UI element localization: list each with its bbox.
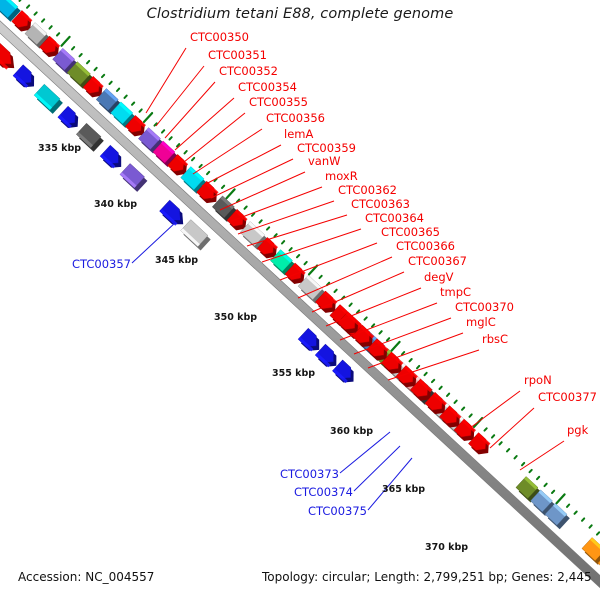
tick-minor — [42, 19, 44, 21]
tick-minor — [470, 414, 472, 416]
tick-minor — [27, 5, 29, 7]
tick-minor — [140, 109, 142, 111]
leader-line — [211, 159, 293, 198]
gene-block — [120, 164, 147, 192]
axis-tick-label: 350 kbp — [214, 312, 257, 323]
gene-label-pgk[interactable]: pgk — [567, 423, 588, 437]
gene-label-ctc00370[interactable]: CTC00370 — [455, 300, 514, 314]
gene-label-ctc00359[interactable]: CTC00359 — [297, 141, 356, 155]
axis-tick-label: 370 kbp — [425, 542, 468, 553]
tick-minor — [575, 512, 577, 514]
gene-label-ctc00356[interactable]: CTC00356 — [266, 111, 325, 125]
tick-minor — [297, 255, 299, 257]
tick-minor — [522, 463, 524, 465]
gene-label-moxr[interactable]: moxR — [325, 169, 358, 183]
tick-minor — [590, 525, 592, 527]
leader-line — [340, 432, 390, 473]
tick-minor — [222, 186, 224, 188]
tick-minor — [200, 165, 202, 167]
gene-label-ctc00373[interactable]: CTC00373 — [280, 467, 339, 481]
tick-minor — [50, 26, 52, 28]
gene-label-ctc00367[interactable]: CTC00367 — [408, 254, 467, 268]
tick-minor — [20, 0, 22, 1]
tick-minor — [282, 241, 284, 243]
tick-minor — [170, 137, 172, 139]
gene-arrow — [100, 145, 121, 168]
tick-minor — [447, 394, 449, 396]
axis-tick-label: 345 kbp — [155, 255, 198, 266]
tick-minor — [425, 373, 427, 375]
leader-line — [229, 187, 322, 222]
tick-minor — [410, 359, 412, 361]
tick-minor — [455, 401, 457, 403]
tick-minor — [207, 172, 209, 174]
gene-label-rbsc[interactable]: rbsC — [482, 332, 508, 346]
gene-label-ctc00357[interactable]: CTC00357 — [72, 257, 131, 271]
gene-label-ctc00374[interactable]: CTC00374 — [294, 485, 353, 499]
tick-minor — [132, 103, 134, 105]
tick-minor — [110, 82, 112, 84]
tick-minor — [335, 290, 337, 292]
leader-line — [184, 113, 245, 162]
tick-minor — [252, 213, 254, 215]
tick-minor — [417, 366, 419, 368]
gene-label-ctc00377[interactable]: CTC00377 — [538, 390, 597, 404]
leader-line — [470, 391, 520, 428]
tick-minor — [72, 47, 74, 49]
leader-line — [238, 201, 334, 234]
tick-major — [62, 37, 70, 46]
genome-stats-text: Topology: circular; Length: 2,799,251 bp… — [262, 570, 592, 584]
gene-label-mglc[interactable]: mglC — [466, 315, 496, 329]
gene-block — [181, 220, 211, 251]
tick-major — [227, 189, 235, 198]
tick-minor — [267, 227, 269, 229]
tick-minor — [530, 470, 532, 472]
tick-minor — [57, 33, 59, 35]
tick-major — [392, 342, 400, 351]
gene-label-ctc00354[interactable]: CTC00354 — [238, 80, 297, 94]
genome-map-canvas: Clostridium tetani E88, complete genome … — [0, 0, 600, 600]
gene-block — [34, 84, 63, 114]
tick-minor — [365, 317, 367, 319]
gene-label-vanw[interactable]: vanW — [308, 154, 341, 168]
gene-label-ctc00365[interactable]: CTC00365 — [381, 225, 440, 239]
tick-minor — [87, 61, 89, 63]
gene-label-ctc00355[interactable]: CTC00355 — [249, 95, 308, 109]
gene-label-ctc00364[interactable]: CTC00364 — [365, 211, 424, 225]
tick-minor — [35, 12, 37, 14]
tick-minor — [537, 477, 539, 479]
tick-minor — [432, 380, 434, 382]
gene-label-ctc00351[interactable]: CTC00351 — [208, 48, 267, 62]
tick-minor — [95, 68, 97, 70]
axis-tick-label: 335 kbp — [38, 143, 81, 154]
tick-minor — [245, 207, 247, 209]
tick-major — [557, 494, 565, 503]
tick-minor — [402, 352, 404, 354]
tick-minor — [387, 338, 389, 340]
tick-minor — [117, 89, 119, 91]
axis-tick-label: 365 kbp — [382, 484, 425, 495]
tick-minor — [552, 491, 554, 493]
tick-minor — [185, 151, 187, 153]
label-leader-lines — [132, 48, 564, 510]
leader-line — [146, 48, 186, 113]
leader-line — [165, 82, 215, 138]
leader-line — [202, 145, 281, 186]
axis-tick-label: 360 kbp — [330, 426, 373, 437]
tick-minor — [515, 456, 517, 458]
tick-minor — [380, 331, 382, 333]
gene-label-ctc00352[interactable]: CTC00352 — [219, 64, 278, 78]
tick-minor — [507, 449, 509, 451]
tick-minor — [192, 158, 194, 160]
tick-minor — [597, 532, 599, 534]
tick-minor — [275, 234, 277, 236]
gene-arrow — [160, 200, 184, 226]
tick-major — [144, 113, 152, 122]
gene-label-ctc00350[interactable]: CTC00350 — [190, 30, 249, 44]
accession-text: Accession: NC_004557 — [18, 570, 154, 584]
tick-minor — [162, 130, 164, 132]
leader-line — [193, 129, 262, 174]
tick-minor — [372, 324, 374, 326]
leader-line — [298, 257, 392, 298]
leader-line — [490, 408, 534, 448]
gene-label-ctc00366[interactable]: CTC00366 — [396, 239, 455, 253]
gene-block — [582, 538, 600, 565]
tick-minor — [492, 435, 494, 437]
gene-arrow — [298, 328, 319, 351]
gene-label-lema[interactable]: lemA — [284, 127, 313, 141]
tick-minor — [545, 484, 547, 486]
gene-label-tmpc[interactable]: tmpC — [440, 285, 471, 299]
tick-minor — [260, 220, 262, 222]
tick-minor — [582, 518, 584, 520]
gene-label-ctc00363[interactable]: CTC00363 — [351, 197, 410, 211]
gene-label-rpon[interactable]: rpoN — [524, 373, 552, 387]
tick-minor — [567, 505, 569, 507]
leader-line — [520, 441, 564, 470]
tick-minor — [290, 248, 292, 250]
tick-minor — [125, 96, 127, 98]
tick-minor — [80, 54, 82, 56]
gene-arrow — [13, 65, 34, 88]
tick-minor — [102, 75, 104, 77]
gene-label-degv[interactable]: degV — [424, 270, 454, 284]
tick-minor — [440, 387, 442, 389]
tick-minor — [462, 408, 464, 410]
leader-line — [175, 98, 234, 150]
gene-label-ctc00375[interactable]: CTC00375 — [308, 504, 367, 518]
tick-minor — [350, 304, 352, 306]
gene-arrow — [0, 43, 14, 70]
gene-label-ctc00362[interactable]: CTC00362 — [338, 183, 397, 197]
leader-line — [280, 243, 377, 280]
axis-tick-label: 355 kbp — [272, 368, 315, 379]
axis-tick-label: 340 kbp — [94, 199, 137, 210]
tick-minor — [305, 262, 307, 264]
gene-arrow — [58, 106, 78, 128]
tick-minor — [320, 276, 322, 278]
tick-minor — [485, 428, 487, 430]
tick-minor — [500, 442, 502, 444]
leader-line — [156, 66, 204, 126]
